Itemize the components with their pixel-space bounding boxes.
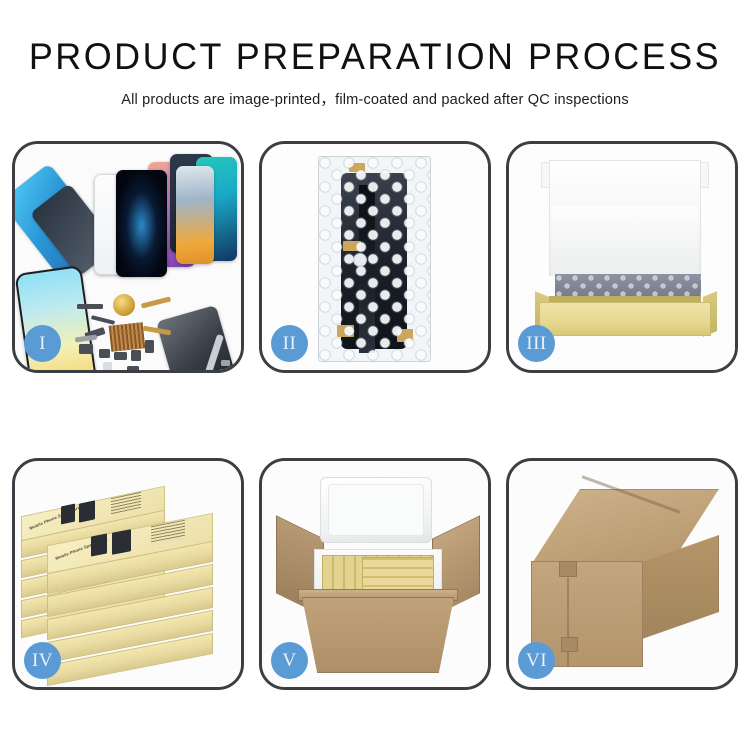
step-card-iii[interactable]: III bbox=[506, 141, 738, 373]
bubble-wrap-bag bbox=[318, 156, 431, 362]
page-header: PRODUCT PREPARATION PROCESS All products… bbox=[0, 0, 750, 109]
step-card-iv[interactable]: Mobile Phone Spare Parts Mobile Phone Sp… bbox=[12, 458, 244, 690]
speaker-module bbox=[113, 294, 135, 316]
spare-part bbox=[91, 315, 115, 325]
flex-cable bbox=[141, 296, 171, 308]
step-card-vi[interactable]: VI bbox=[506, 458, 738, 690]
box-label-image bbox=[112, 529, 131, 555]
spare-part bbox=[221, 360, 230, 366]
bubble-texture bbox=[319, 157, 430, 361]
spare-part bbox=[127, 366, 139, 370]
step-card-v[interactable]: V bbox=[259, 458, 491, 690]
spare-part bbox=[131, 350, 141, 361]
page-subtitle: All products are image-printed，film-coat… bbox=[0, 88, 750, 109]
step-badge-ii: II bbox=[271, 325, 308, 362]
carton-body bbox=[302, 597, 454, 673]
process-step-grid: I II bbox=[12, 141, 738, 690]
carton-tape bbox=[559, 561, 577, 577]
step-badge-iv: IV bbox=[24, 642, 61, 679]
step-card-ii[interactable]: II bbox=[259, 141, 491, 373]
spare-part bbox=[145, 340, 154, 353]
box-label-image bbox=[91, 533, 107, 556]
spare-part bbox=[103, 362, 112, 370]
box-label-image bbox=[79, 500, 95, 522]
box-label-image bbox=[61, 504, 75, 525]
phone-black-display bbox=[116, 170, 167, 277]
foam-sheet bbox=[551, 206, 699, 276]
step-badge-v: V bbox=[271, 642, 308, 679]
step-badge-vi: VI bbox=[518, 642, 555, 679]
box-front-yellow bbox=[539, 302, 711, 336]
spare-part bbox=[114, 352, 127, 360]
foam-lid-inner bbox=[328, 484, 424, 536]
spare-part bbox=[99, 349, 110, 358]
spare-part bbox=[77, 304, 103, 309]
logic-board-chip bbox=[109, 322, 146, 351]
page-title: PRODUCT PREPARATION PROCESS bbox=[11, 38, 739, 77]
phone-orange bbox=[176, 166, 214, 264]
step-badge-i: I bbox=[24, 325, 61, 362]
step-badge-iii: III bbox=[518, 325, 555, 362]
carton-tape bbox=[561, 637, 578, 652]
step-card-i[interactable]: I bbox=[12, 141, 244, 373]
spare-part bbox=[79, 344, 93, 354]
